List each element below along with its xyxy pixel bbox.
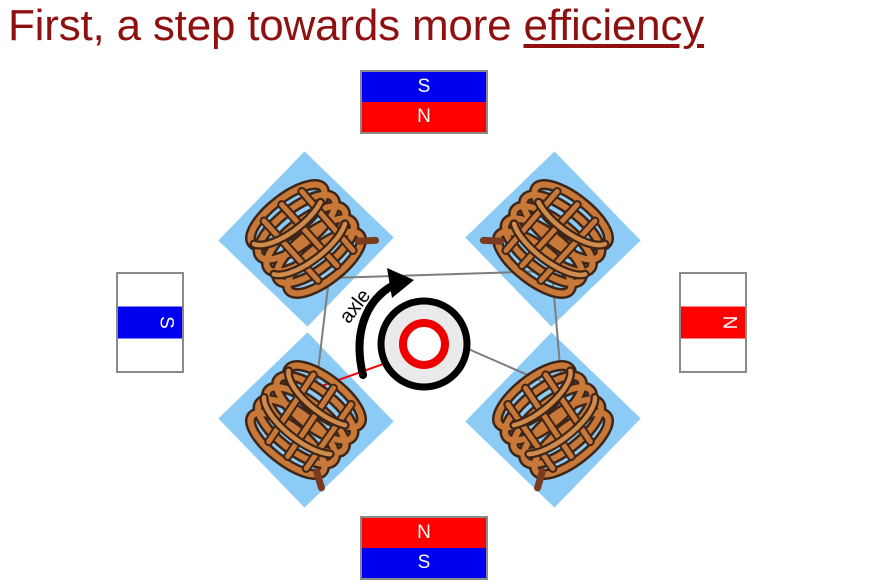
- page-title-lead: First, a step towards more: [8, 1, 523, 50]
- magnet-bottom-pole-second: S: [362, 548, 486, 578]
- coil-core-top-right: [465, 151, 640, 326]
- magnet-bottom: N S: [360, 516, 488, 580]
- coil-top-right: [482, 169, 620, 306]
- magnet-right-pole-second: N: [681, 307, 748, 339]
- page-title: First, a step towards more efficiency: [8, 0, 882, 56]
- slide-canvas: First, a step towards more efficiency S …: [0, 0, 890, 586]
- coil-top-left: [239, 169, 377, 306]
- axle-label: axle: [335, 285, 375, 327]
- commutator-ring: [403, 323, 445, 365]
- hub-outer-circle: [381, 301, 467, 387]
- lead-wire-hub-right: [466, 348, 562, 390]
- coil-bottom-left: [239, 353, 377, 490]
- magnet-left: N S: [116, 272, 184, 373]
- coil-core-bottom-left: [218, 332, 393, 507]
- lead-wire-left: [316, 278, 329, 388]
- rotor-hub: [381, 301, 467, 387]
- magnet-right: S N: [679, 272, 747, 373]
- lead-wire-hub-red: [316, 348, 428, 388]
- magnet-top-pole-second: N: [362, 102, 486, 132]
- coil-core-group: [218, 151, 640, 507]
- coil-core-bottom-right: [465, 332, 640, 507]
- magnet-top: S N: [360, 70, 488, 134]
- page-title-emphasis: efficiency: [523, 1, 704, 50]
- rotation-arrow-icon: [360, 268, 414, 375]
- magnet-bottom-pole-first: N: [362, 518, 486, 548]
- coil-bottom-right: [482, 353, 620, 490]
- magnet-left-pole-second: S: [118, 307, 185, 339]
- lead-wire-group: [316, 271, 562, 390]
- lead-wire-top: [329, 271, 552, 278]
- coil-core-top-left: [218, 151, 393, 326]
- magnet-top-pole-first: S: [362, 72, 486, 102]
- lead-wire-right: [552, 271, 562, 390]
